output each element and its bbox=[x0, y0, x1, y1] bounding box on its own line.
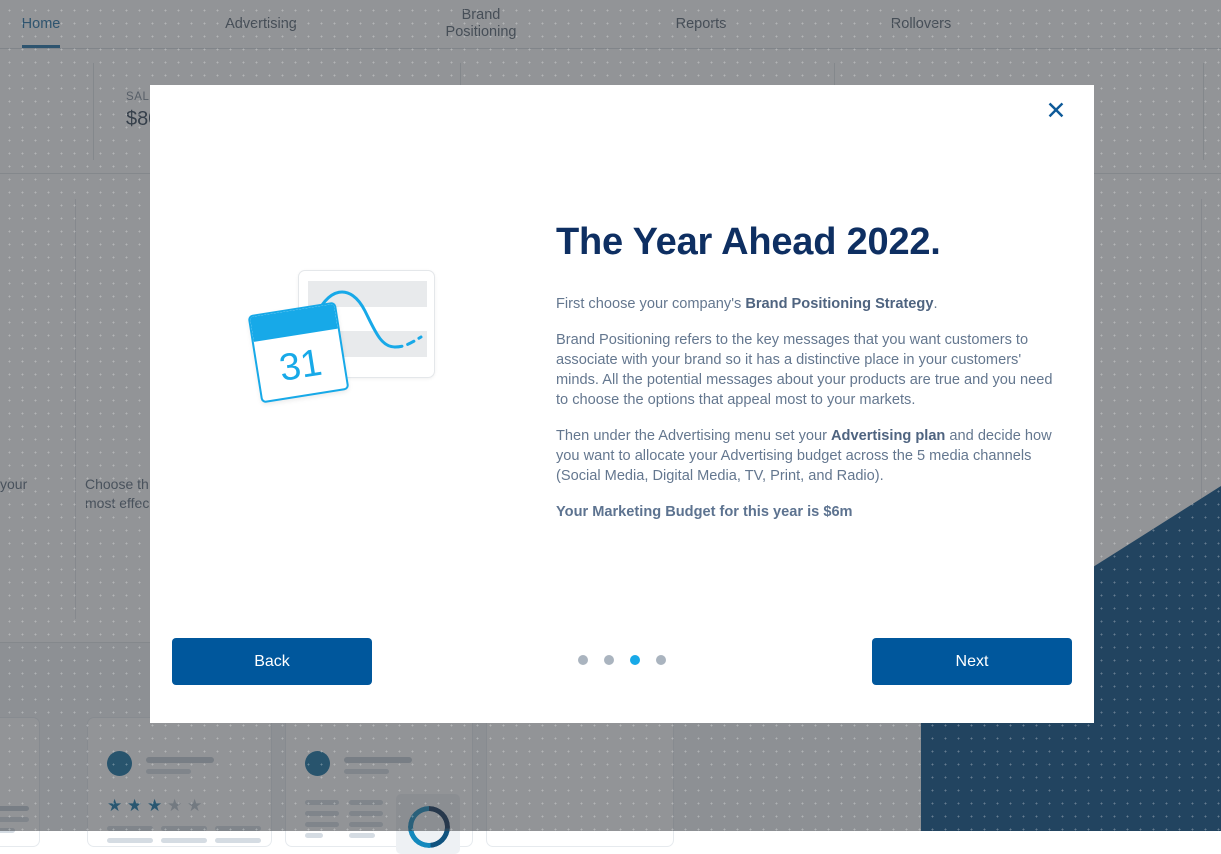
onboarding-modal: ✕ 31 The Year Ahead 2022. First choose y… bbox=[150, 85, 1094, 723]
paragraph-text: . bbox=[933, 296, 937, 312]
skeleton-line bbox=[215, 838, 261, 843]
calendar-day-number: 31 bbox=[254, 329, 348, 404]
paragraph-emphasis: Brand Positioning Strategy bbox=[745, 296, 933, 312]
back-button[interactable]: Back bbox=[172, 638, 372, 685]
paragraph-text: Brand Positioning refers to the key mess… bbox=[556, 332, 1053, 408]
carousel-dot-3[interactable] bbox=[630, 655, 640, 665]
skeleton-line bbox=[107, 838, 153, 843]
modal-paragraph-2: Brand Positioning refers to the key mess… bbox=[556, 330, 1056, 410]
paragraph-emphasis: Advertising plan bbox=[831, 428, 945, 444]
next-button[interactable]: Next bbox=[872, 638, 1072, 685]
marketing-budget-line: Your Marketing Budget for this year is $… bbox=[556, 502, 1056, 522]
paragraph-text: Then under the Advertising menu set your bbox=[556, 428, 831, 444]
carousel-dot-2[interactable] bbox=[604, 655, 614, 665]
paragraph-text: First choose your company's bbox=[556, 296, 745, 312]
modal-footer: Back Next bbox=[150, 630, 1094, 723]
carousel-dot-4[interactable] bbox=[656, 655, 666, 665]
carousel-dot-1[interactable] bbox=[578, 655, 588, 665]
modal-text-column: The Year Ahead 2022. First choose your c… bbox=[556, 220, 1056, 522]
calendar-chart-icon: 31 bbox=[245, 270, 460, 435]
modal-paragraph-3: Then under the Advertising menu set your… bbox=[556, 426, 1056, 486]
page-title: The Year Ahead 2022. bbox=[556, 220, 1056, 264]
modal-paragraph-1: First choose your company's Brand Positi… bbox=[556, 294, 1056, 314]
carousel-dots bbox=[578, 655, 666, 665]
skeleton-line bbox=[305, 833, 323, 838]
modal-body: 31 The Year Ahead 2022. First choose you… bbox=[150, 85, 1094, 630]
calendar-graphic: 31 bbox=[248, 302, 350, 404]
skeleton-line bbox=[349, 833, 375, 838]
skeleton-line bbox=[161, 838, 207, 843]
